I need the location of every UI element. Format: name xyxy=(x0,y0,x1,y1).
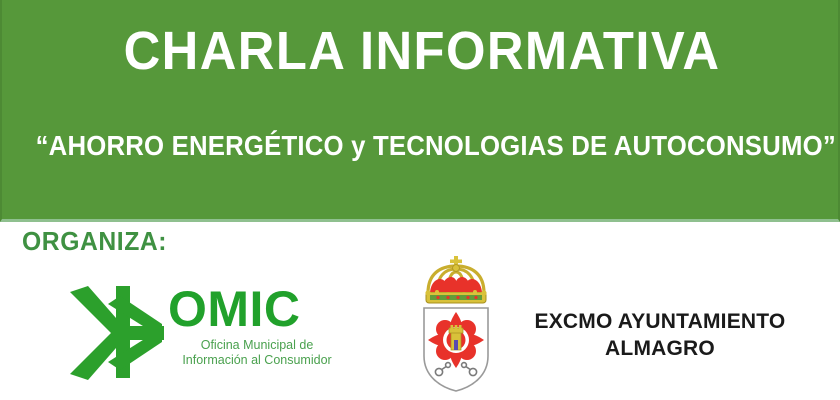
page-subtitle: “AHORRO ENERGÉTICO y TECNOLOGIAS DE AUTO… xyxy=(36,132,809,160)
ayuntamiento-name: EXCMO AYUNTAMIENTO ALMAGRO xyxy=(510,308,810,362)
organiza-label: ORGANIZA: xyxy=(22,226,167,257)
omic-tagline-line1: Oficina Municipal de xyxy=(201,338,314,352)
shield-icon xyxy=(424,308,488,391)
omic-logo: OMIC Oficina Municipal de Información al… xyxy=(68,278,318,388)
poster-root: CHARLA INFORMATIVA “AHORRO ENERGÉTICO y … xyxy=(0,0,840,400)
crown-icon xyxy=(425,256,486,303)
almagro-coat-of-arms xyxy=(408,252,504,394)
omic-tagline-line2: Información al Consumidor xyxy=(182,353,331,367)
omic-wordmark: OMIC xyxy=(168,284,301,334)
ayuntamiento-line2: ALMAGRO xyxy=(510,335,810,362)
page-title: CHARLA INFORMATIVA xyxy=(27,24,817,78)
ayuntamiento-line1: EXCMO AYUNTAMIENTO xyxy=(510,308,810,335)
green-banner: CHARLA INFORMATIVA “AHORRO ENERGÉTICO y … xyxy=(0,0,840,222)
omic-tagline: Oficina Municipal de Información al Cons… xyxy=(172,338,342,368)
omic-arrow-asterisk-mark xyxy=(68,282,164,382)
castle-tower-icon xyxy=(449,325,463,350)
